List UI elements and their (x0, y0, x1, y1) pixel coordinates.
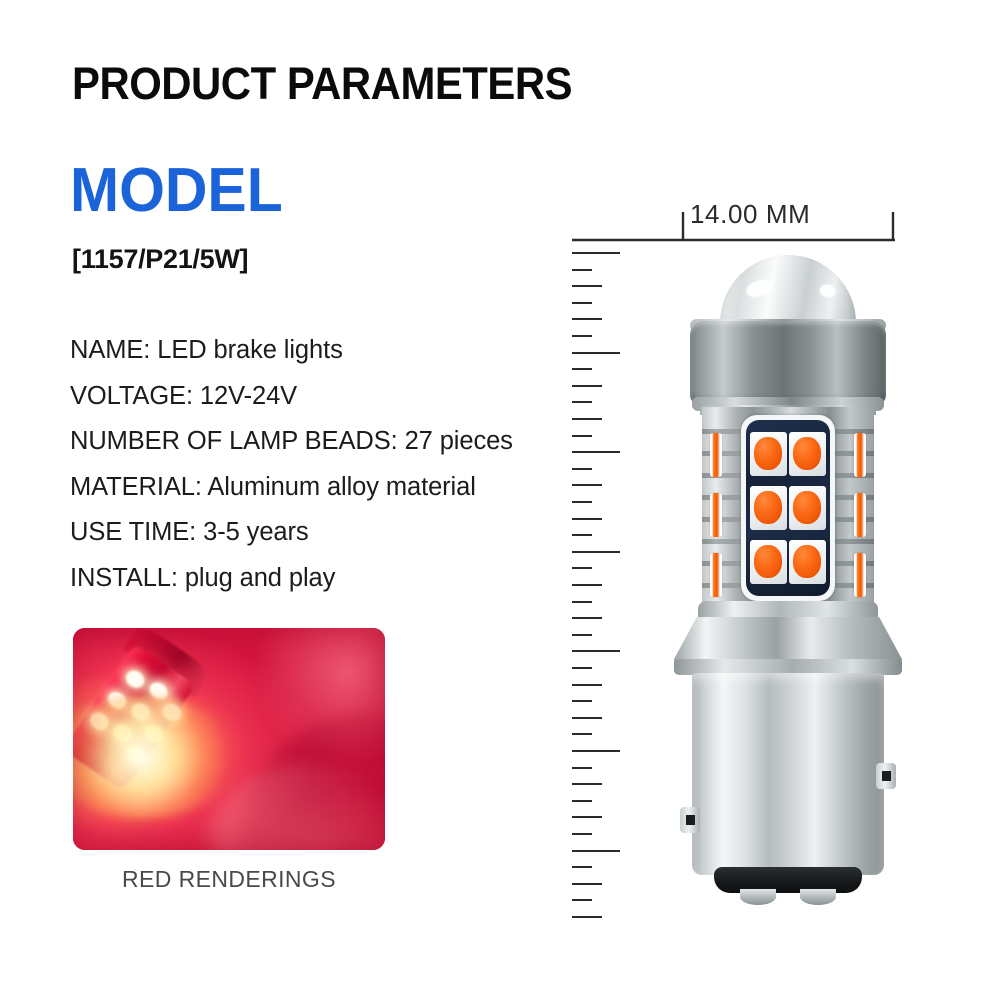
spec-item-use-time: USE TIME: 3-5 years (70, 520, 540, 546)
ruler-tick (572, 899, 592, 901)
ruler-tick (572, 650, 620, 652)
ruler-tick (572, 468, 592, 470)
vertical-ruler (572, 252, 632, 934)
ruler-tick (572, 252, 620, 254)
ruler-tick (572, 302, 592, 304)
led-chip (793, 491, 821, 524)
side-led-strip (710, 553, 722, 597)
bayonet-pin (680, 807, 700, 833)
ruler-tick (572, 850, 620, 852)
ruler-tick (572, 733, 592, 735)
product-image-led-bulb (628, 255, 948, 935)
ruler-tick (572, 534, 592, 536)
spec-item-lamp-beads: NUMBER OF LAMP BEADS: 27 pieces (70, 429, 540, 455)
ruler-tick (572, 352, 620, 354)
ruler-tick (572, 866, 592, 868)
ruler-tick (572, 418, 602, 420)
ruler-tick (572, 484, 602, 486)
led-chip (754, 545, 782, 578)
ruler-tick (572, 435, 592, 437)
ruler-tick (572, 800, 592, 802)
dimension-label: 14.00 MM (690, 199, 810, 230)
side-led-strip (854, 493, 866, 537)
model-code: [1157/P21/5W] (72, 244, 248, 275)
base-insulator (714, 867, 862, 893)
ruler-tick (572, 916, 602, 918)
ruler-tick (572, 684, 602, 686)
ruler-tick (572, 551, 620, 553)
ruler-tick (572, 368, 592, 370)
bayonet-pin (876, 763, 896, 789)
red-rendering-caption: RED RENDERINGS (73, 866, 385, 893)
ruler-tick (572, 833, 592, 835)
ruler-tick (572, 567, 592, 569)
led-chip (793, 545, 821, 578)
ruler-tick (572, 601, 592, 603)
side-led-strip (854, 433, 866, 477)
ruler-tick (572, 717, 602, 719)
ruler-tick (572, 385, 602, 387)
bulb-heatsink-collar (690, 321, 886, 405)
bayonet-base (692, 673, 884, 875)
model-heading: MODEL (70, 160, 283, 222)
ruler-tick (572, 667, 592, 669)
side-led-strip (710, 493, 722, 537)
led-board (746, 420, 830, 596)
ruler-tick (572, 318, 602, 320)
led-chip (754, 491, 782, 524)
ruler-tick (572, 816, 602, 818)
led-chip (754, 437, 782, 470)
ruler-tick (572, 285, 602, 287)
ruler-tick (572, 767, 592, 769)
spec-item-material: MATERIAL: Aluminum alloy material (70, 475, 540, 501)
base-contact (740, 889, 776, 905)
ruler-tick (572, 783, 602, 785)
ruler-tick (572, 269, 592, 271)
spec-item-install: INSTALL: plug and play (70, 566, 540, 592)
ruler-tick (572, 335, 592, 337)
side-led-strip (710, 433, 722, 477)
photo-vignette (73, 628, 385, 850)
red-rendering-photo (73, 628, 385, 850)
ruler-tick (572, 451, 620, 453)
ruler-tick (572, 617, 602, 619)
spec-item-name: NAME: LED brake lights (70, 338, 540, 364)
page-title: PRODUCT PARAMETERS (72, 58, 572, 110)
led-chip (793, 437, 821, 470)
ruler-tick (572, 518, 602, 520)
ruler-tick (572, 584, 602, 586)
side-led-strip (854, 553, 866, 597)
ruler-tick (572, 501, 592, 503)
spec-item-voltage: VOLTAGE: 12V-24V (70, 384, 540, 410)
ruler-tick (572, 883, 602, 885)
ruler-tick (572, 750, 620, 752)
ruler-tick (572, 401, 592, 403)
ruler-tick (572, 700, 592, 702)
ruler-tick (572, 634, 592, 636)
spec-list: NAME: LED brake lights VOLTAGE: 12V-24V … (70, 338, 540, 611)
base-contact (800, 889, 836, 905)
